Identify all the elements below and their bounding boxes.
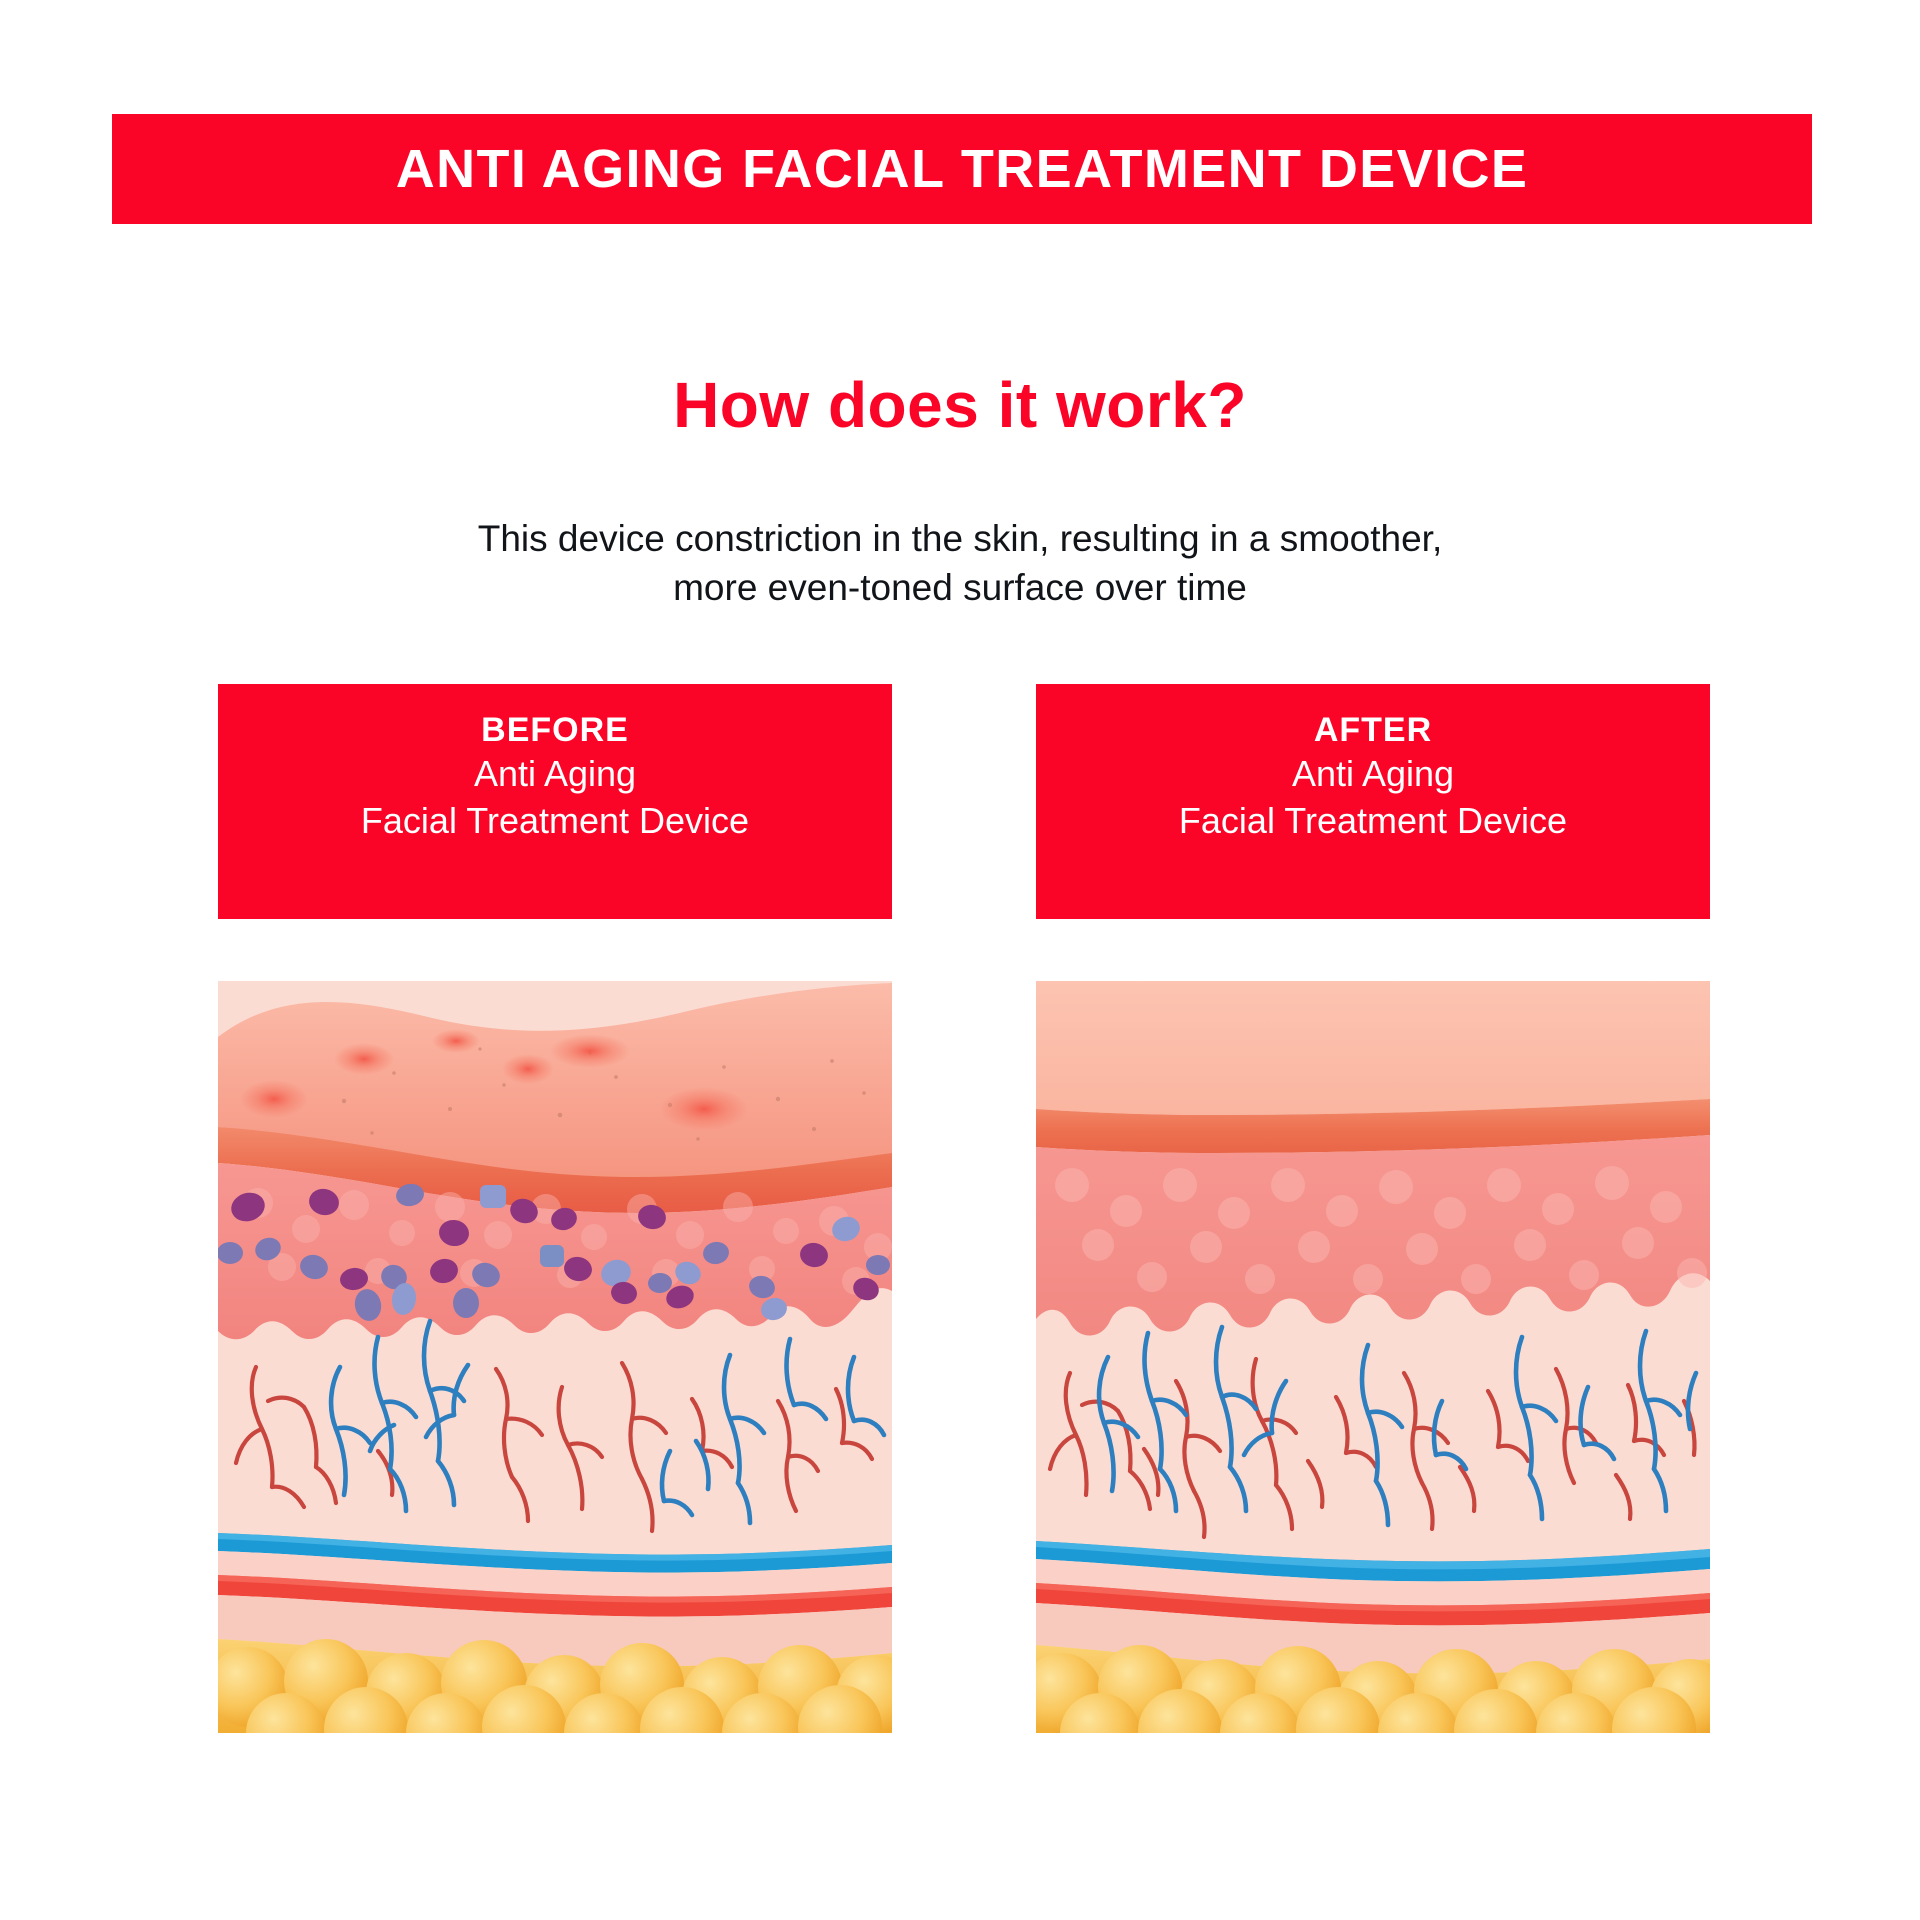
comparison-panels: BEFORE Anti Aging Facial Treatment Devic… bbox=[0, 684, 1920, 1744]
subtitle-line-2: more even-toned surface over time bbox=[310, 564, 1610, 613]
after-label-sub-1: Anti Aging bbox=[1046, 751, 1700, 797]
after-epidermis-layer bbox=[1036, 981, 1710, 1115]
panel-before: BEFORE Anti Aging Facial Treatment Devic… bbox=[218, 684, 892, 1733]
after-label-main: AFTER bbox=[1046, 710, 1700, 751]
before-label-sub-1: Anti Aging bbox=[228, 751, 882, 797]
before-label-sub-2: Facial Treatment Device bbox=[228, 798, 882, 844]
subtitle-line-1: This device constriction in the skin, re… bbox=[310, 515, 1610, 564]
page-title: ANTI AGING FACIAL TREATMENT DEVICE bbox=[396, 142, 1529, 196]
after-skin-cross-section-diagram bbox=[1036, 981, 1710, 1733]
after-label-box: AFTER Anti Aging Facial Treatment Device bbox=[1036, 684, 1710, 919]
header-banner: ANTI AGING FACIAL TREATMENT DEVICE bbox=[112, 114, 1812, 224]
before-label-box: BEFORE Anti Aging Facial Treatment Devic… bbox=[218, 684, 892, 919]
section-subtitle: This device constriction in the skin, re… bbox=[310, 515, 1610, 613]
after-label-sub-2: Facial Treatment Device bbox=[1046, 798, 1700, 844]
before-skin-cross-section-diagram bbox=[218, 981, 892, 1733]
section-heading: How does it work? bbox=[0, 368, 1920, 442]
before-label-main: BEFORE bbox=[228, 710, 882, 751]
panel-after: AFTER Anti Aging Facial Treatment Device bbox=[1036, 684, 1710, 1733]
